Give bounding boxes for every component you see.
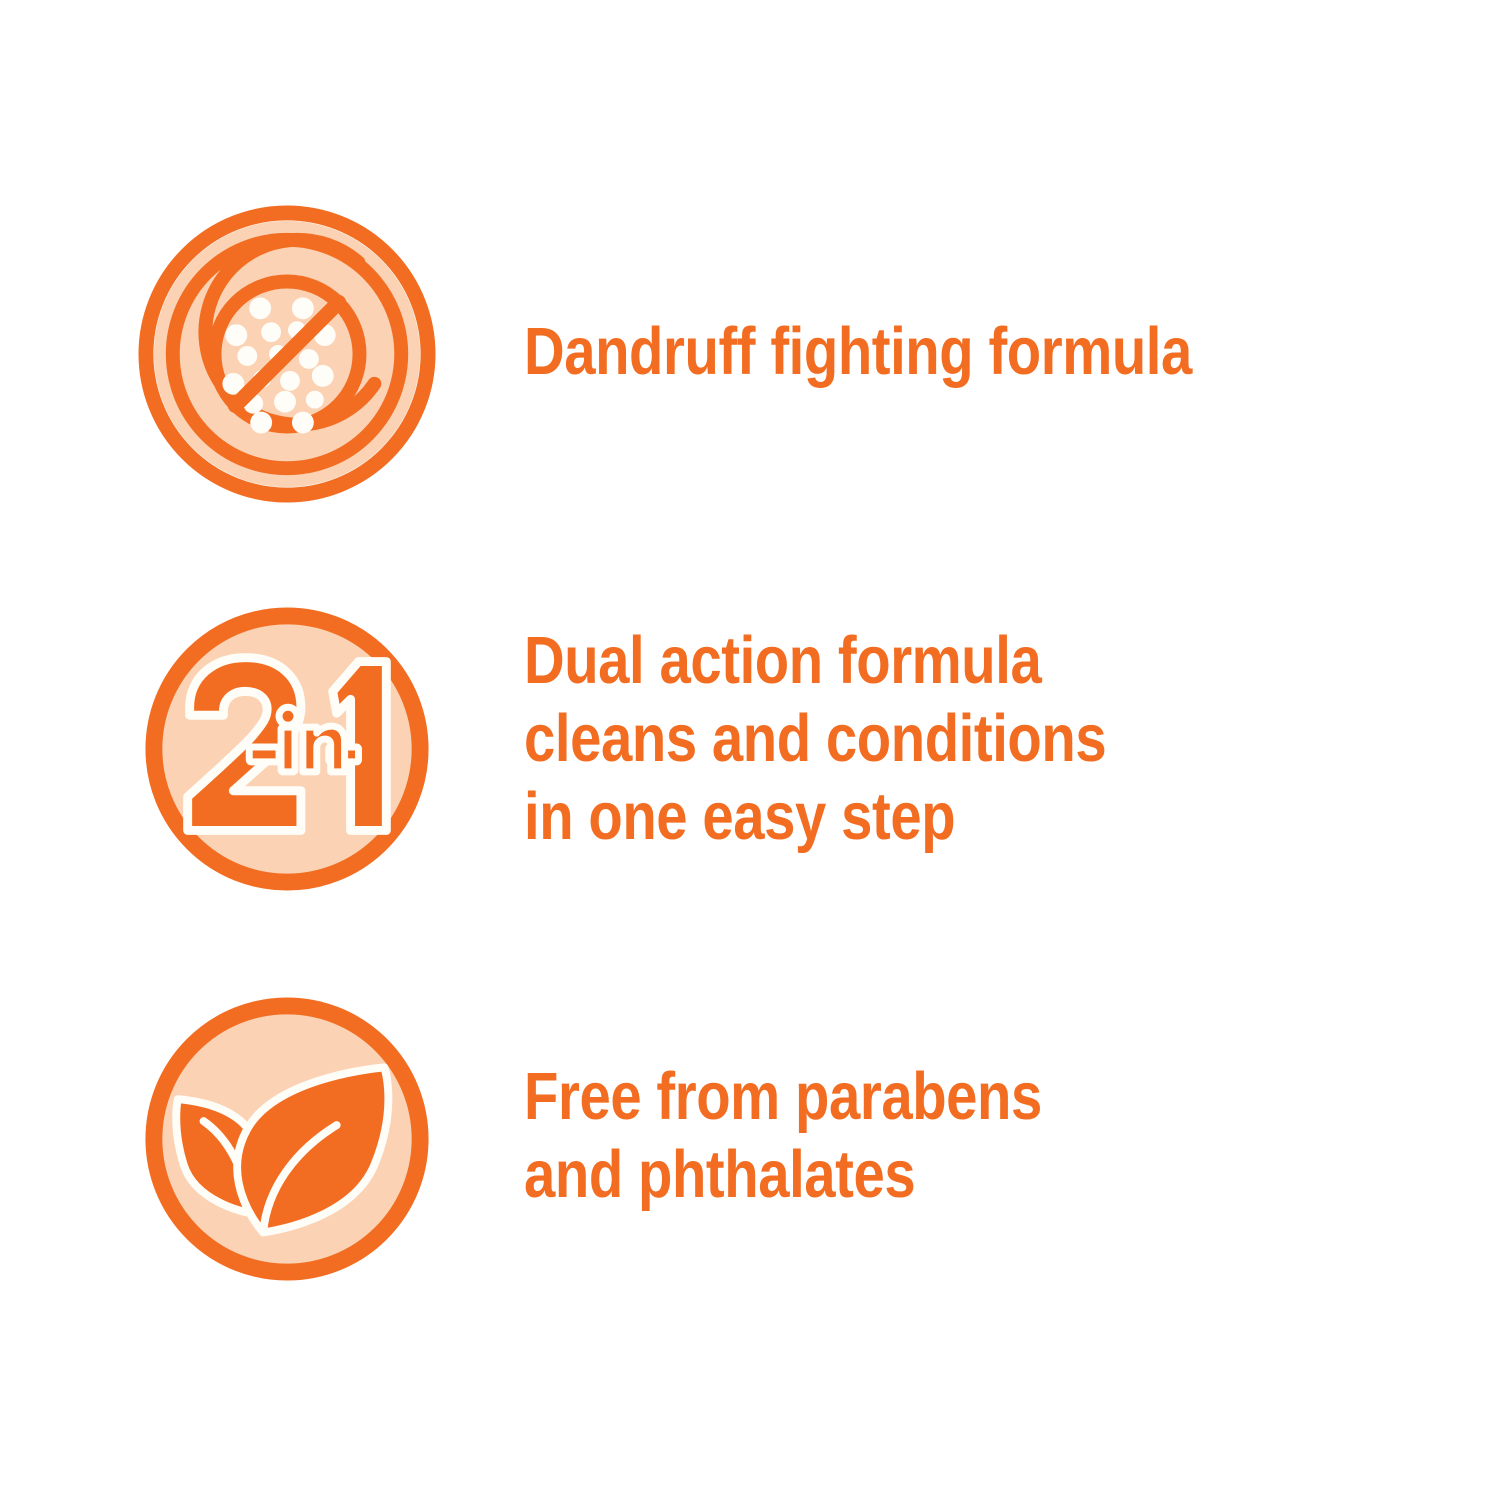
feature-text: Dandruff fighting formula: [524, 313, 1280, 391]
feature-row: Free from parabens and phthalates: [0, 990, 1500, 1290]
leaves-icon: [138, 990, 436, 1288]
no-dandruff-icon: [138, 205, 436, 503]
feature-text: Free from parabens and phthalates: [524, 1058, 1280, 1214]
feature-row: Dual action formula cleans and condition…: [0, 600, 1500, 900]
two-in-one-icon: [138, 600, 436, 898]
feature-text: Dual action formula cleans and condition…: [524, 622, 1280, 856]
feature-row: Dandruff fighting formula: [0, 205, 1500, 505]
feature-benefits-panel: Dandruff fighting formula: [0, 0, 1500, 1500]
